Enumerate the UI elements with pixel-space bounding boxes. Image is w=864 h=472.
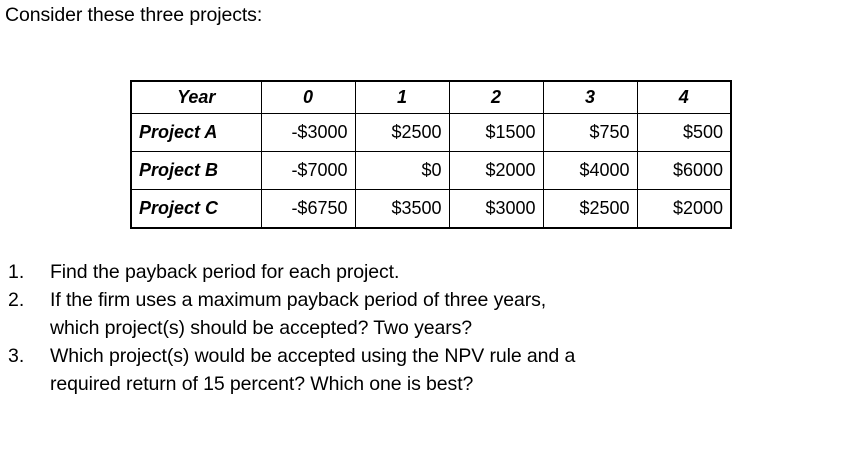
table-row: Project B -$7000 $0 $2000 $4000 $6000 <box>131 152 731 190</box>
list-item-number: 1. <box>8 258 42 286</box>
cashflow-table: Year 0 1 2 3 4 Project A -$3000 $2500 $1… <box>130 80 732 229</box>
row-label-project-b: Project B <box>131 152 261 190</box>
list-item: 2. If the firm uses a maximum payback pe… <box>0 286 864 342</box>
list-item-line-1: Which project(s) would be accepted using… <box>50 342 864 370</box>
intro-text: Consider these three projects: <box>5 2 262 28</box>
cell-c-year0: -$6750 <box>261 190 355 229</box>
list-item-line-2: which project(s) should be accepted? Two… <box>50 314 864 342</box>
list-item-text: Find the payback period for each project… <box>50 258 864 286</box>
table-row: Project A -$3000 $2500 $1500 $750 $500 <box>131 114 731 152</box>
column-header-4: 4 <box>637 81 731 114</box>
cell-b-year1: $0 <box>355 152 449 190</box>
cell-b-year3: $4000 <box>543 152 637 190</box>
column-header-year: Year <box>131 81 261 114</box>
document-page: Consider these three projects: Year 0 1 … <box>0 0 864 472</box>
list-item-line-1: If the firm uses a maximum payback perio… <box>50 286 864 314</box>
column-header-0: 0 <box>261 81 355 114</box>
cell-b-year4: $6000 <box>637 152 731 190</box>
cell-c-year1: $3500 <box>355 190 449 229</box>
cashflow-table-container: Year 0 1 2 3 4 Project A -$3000 $2500 $1… <box>130 80 732 229</box>
cell-c-year4: $2000 <box>637 190 731 229</box>
table-row: Project C -$6750 $3500 $3000 $2500 $2000 <box>131 190 731 229</box>
question-list: 1. Find the payback period for each proj… <box>0 258 864 398</box>
cell-a-year4: $500 <box>637 114 731 152</box>
list-item-number: 2. <box>8 286 42 314</box>
cell-c-year2: $3000 <box>449 190 543 229</box>
list-item: 3. Which project(s) would be accepted us… <box>0 342 864 398</box>
column-header-3: 3 <box>543 81 637 114</box>
row-label-project-a: Project A <box>131 114 261 152</box>
list-item-number: 3. <box>8 342 42 370</box>
cell-b-year0: -$7000 <box>261 152 355 190</box>
cell-c-year3: $2500 <box>543 190 637 229</box>
cell-a-year3: $750 <box>543 114 637 152</box>
list-item-text: Which project(s) would be accepted using… <box>50 342 864 398</box>
column-header-1: 1 <box>355 81 449 114</box>
row-label-project-c: Project C <box>131 190 261 229</box>
column-header-2: 2 <box>449 81 543 114</box>
list-item-line-2: required return of 15 percent? Which one… <box>50 370 864 398</box>
cell-b-year2: $2000 <box>449 152 543 190</box>
list-item-line-1: Find the payback period for each project… <box>50 258 864 286</box>
list-item-text: If the firm uses a maximum payback perio… <box>50 286 864 342</box>
cell-a-year1: $2500 <box>355 114 449 152</box>
list-item: 1. Find the payback period for each proj… <box>0 258 864 286</box>
table-header-row: Year 0 1 2 3 4 <box>131 81 731 114</box>
cell-a-year0: -$3000 <box>261 114 355 152</box>
cell-a-year2: $1500 <box>449 114 543 152</box>
